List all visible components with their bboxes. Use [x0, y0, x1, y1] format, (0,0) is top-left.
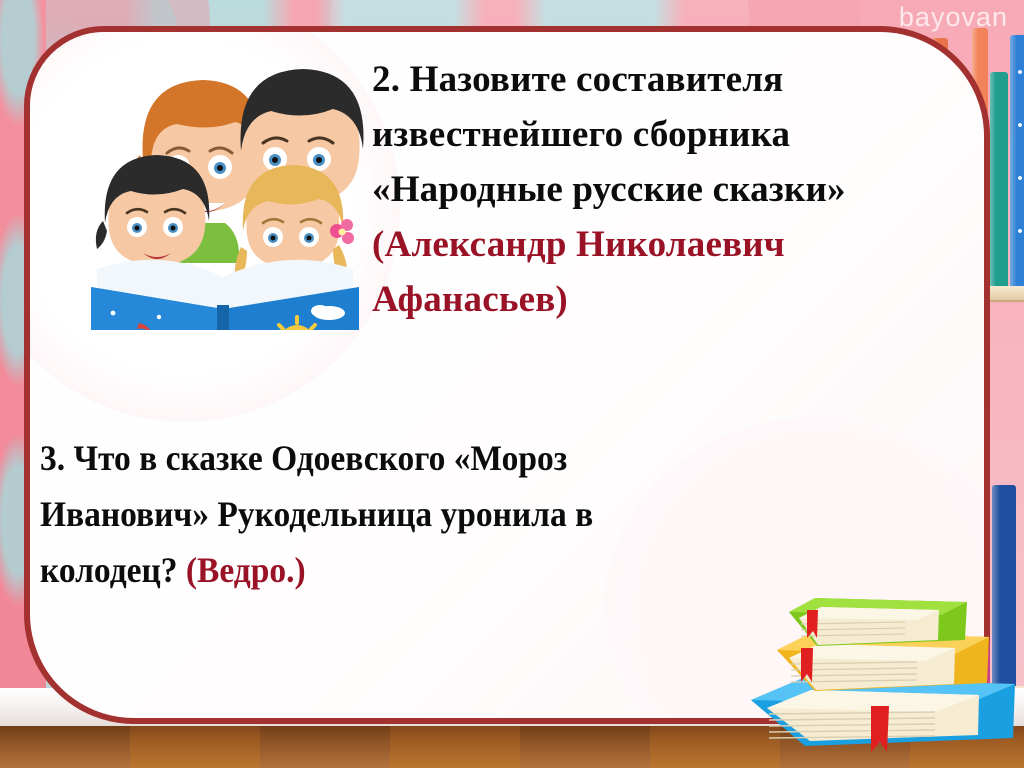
question-2-answer-line-1: (Александр Николаевич	[372, 217, 1024, 272]
question-3-line-2: Иванович» Рукодельница уронила в	[40, 486, 914, 542]
family-reading-icon	[85, 55, 365, 330]
book-top-green	[789, 598, 967, 646]
question-2-line-1: 2. Назовите составителя	[372, 52, 1024, 107]
storybook	[91, 260, 359, 330]
question-3-block: 3. Что в сказке Одоевского «Мороз Иванов…	[40, 430, 980, 598]
question-3-prefix: колодец?	[40, 550, 178, 590]
slide-canvas: 2. Назовите составителя известнейшего сб…	[0, 0, 1024, 768]
stack-of-books-icon	[745, 588, 1020, 753]
question-3-answer: (Ведро.)	[186, 550, 306, 590]
stack-of-books	[745, 588, 1020, 753]
question-2-line-2: известнейшего сборника	[372, 107, 1024, 162]
watermark: bayovan	[899, 2, 1008, 33]
question-2-answer-line-2: Афанасьев)	[372, 272, 1024, 327]
question-2-line-3: «Народные русские сказки»	[372, 162, 1024, 217]
book-bottom-blue	[751, 678, 1015, 752]
question-3-line-1: 3. Что в сказке Одоевского «Мороз	[40, 430, 914, 486]
question-2-block: 2. Назовите составителя известнейшего сб…	[372, 52, 1024, 327]
family-reading-illustration	[85, 55, 365, 330]
